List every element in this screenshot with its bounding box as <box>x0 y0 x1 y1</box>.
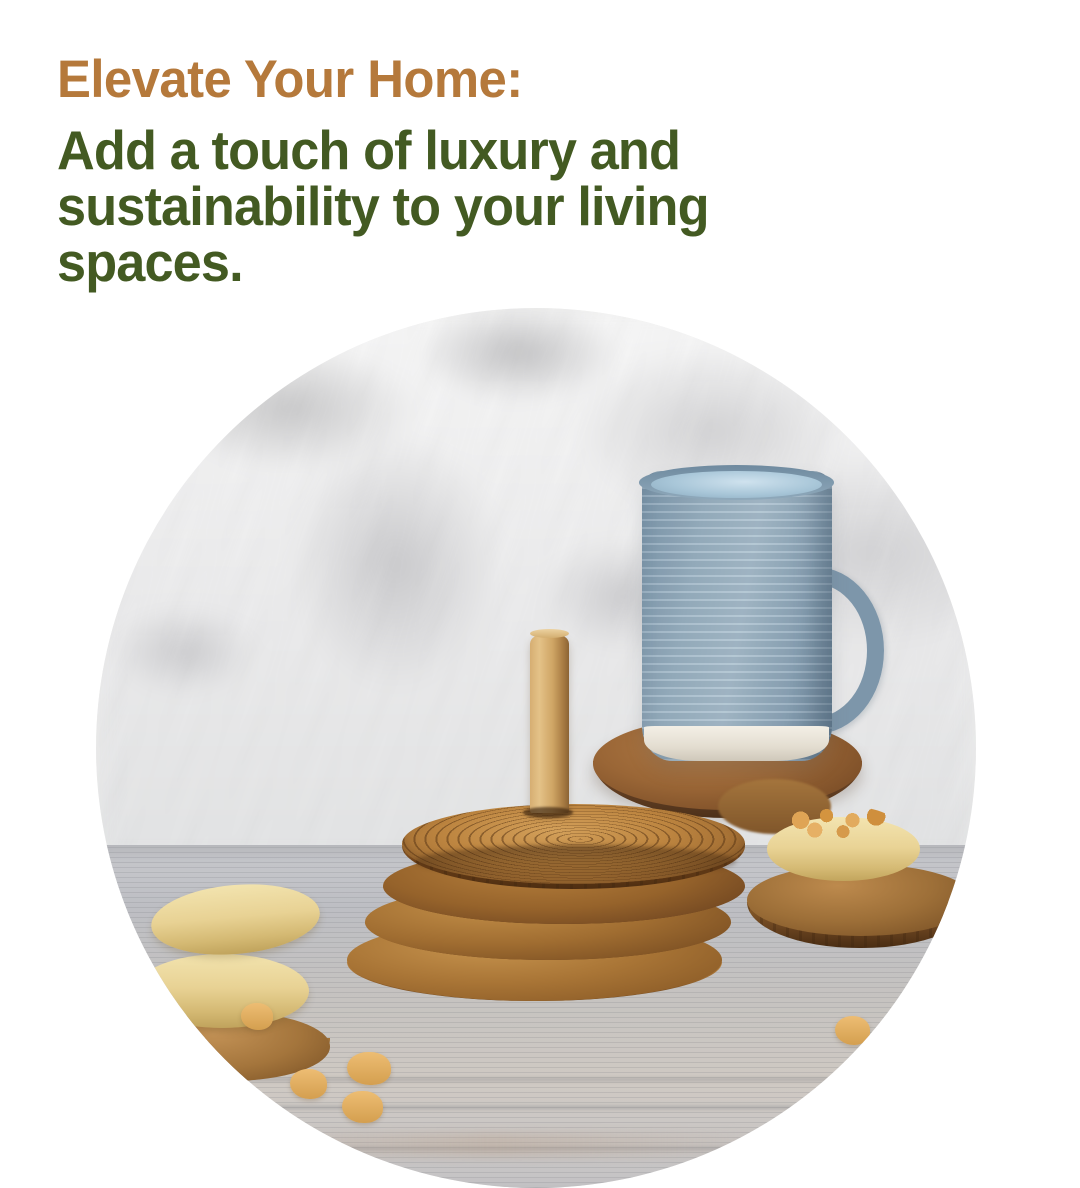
eyebrow-heading: Elevate Your Home: <box>57 52 787 108</box>
headline-line-1: Add a touch of luxury and <box>57 122 779 178</box>
scattered-peanut <box>347 1052 391 1085</box>
mug-body <box>642 471 832 761</box>
left-cookie-group <box>114 854 378 1118</box>
mug-foot-ring <box>644 726 829 761</box>
scattered-peanut <box>290 1069 327 1099</box>
blue-ceramic-mug <box>642 471 880 761</box>
headline-line-3: spaces. <box>57 234 779 290</box>
headline-text-block: Elevate Your Home: Add a touch of luxury… <box>57 52 817 290</box>
scattered-peanut <box>835 1016 870 1044</box>
product-scene <box>96 308 976 1188</box>
headline-line-2: sustainability to your living <box>57 178 779 234</box>
table-warm-highlight <box>184 1133 800 1157</box>
olive-wood-coaster-stack <box>351 774 809 1047</box>
product-photo-circle <box>96 308 976 1188</box>
wooden-dowel <box>530 633 569 813</box>
scattered-peanut <box>241 1003 273 1029</box>
dowel-socket-hole <box>523 807 573 818</box>
page-title: Add a touch of luxury and sustainability… <box>57 122 779 290</box>
coaster-bark-shadow <box>415 845 735 878</box>
dowel-top-cap <box>530 629 569 638</box>
scattered-peanut <box>342 1091 382 1123</box>
